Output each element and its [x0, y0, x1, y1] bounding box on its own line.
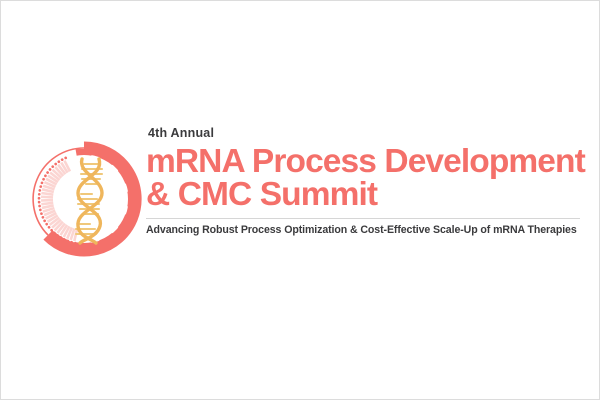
conference-logo-lockup: 4th Annual mRNA Process Development & CM…: [18, 127, 584, 263]
logo-text-block: 4th Annual mRNA Process Development & CM…: [146, 127, 584, 237]
logo-title-line-2: & CMC Summit: [146, 178, 584, 213]
logo-kicker: 4th Annual: [146, 127, 584, 140]
image-canvas: 4th Annual mRNA Process Development & CM…: [0, 0, 600, 400]
logo-divider-rule: [146, 218, 580, 219]
gear-dna-helix-icon: [18, 131, 150, 263]
logo-title-line-1: mRNA Process Development: [146, 145, 584, 180]
logo-tagline: Advancing Robust Process Optimization & …: [146, 224, 584, 237]
